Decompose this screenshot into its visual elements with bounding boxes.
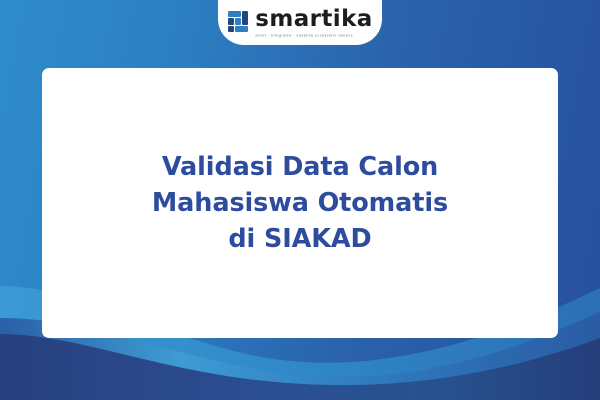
page-title: Validasi Data Calon Mahasiswa Otomatis d… <box>112 149 488 258</box>
slide-canvas: smartika smart · integrated · adaptive e… <box>0 0 600 400</box>
brand-name: smartika <box>255 8 372 31</box>
brand-tagline: smart · integrated · adaptive ecosystem … <box>255 34 353 38</box>
smartika-s-block-icon <box>227 10 249 34</box>
content-card: Validasi Data Calon Mahasiswa Otomatis d… <box>42 68 558 338</box>
brand-text-block: smartika smart · integrated · adaptive e… <box>255 8 372 37</box>
brand-logo-container: smartika smart · integrated · adaptive e… <box>218 0 382 45</box>
wave-layer-dark <box>0 334 600 400</box>
